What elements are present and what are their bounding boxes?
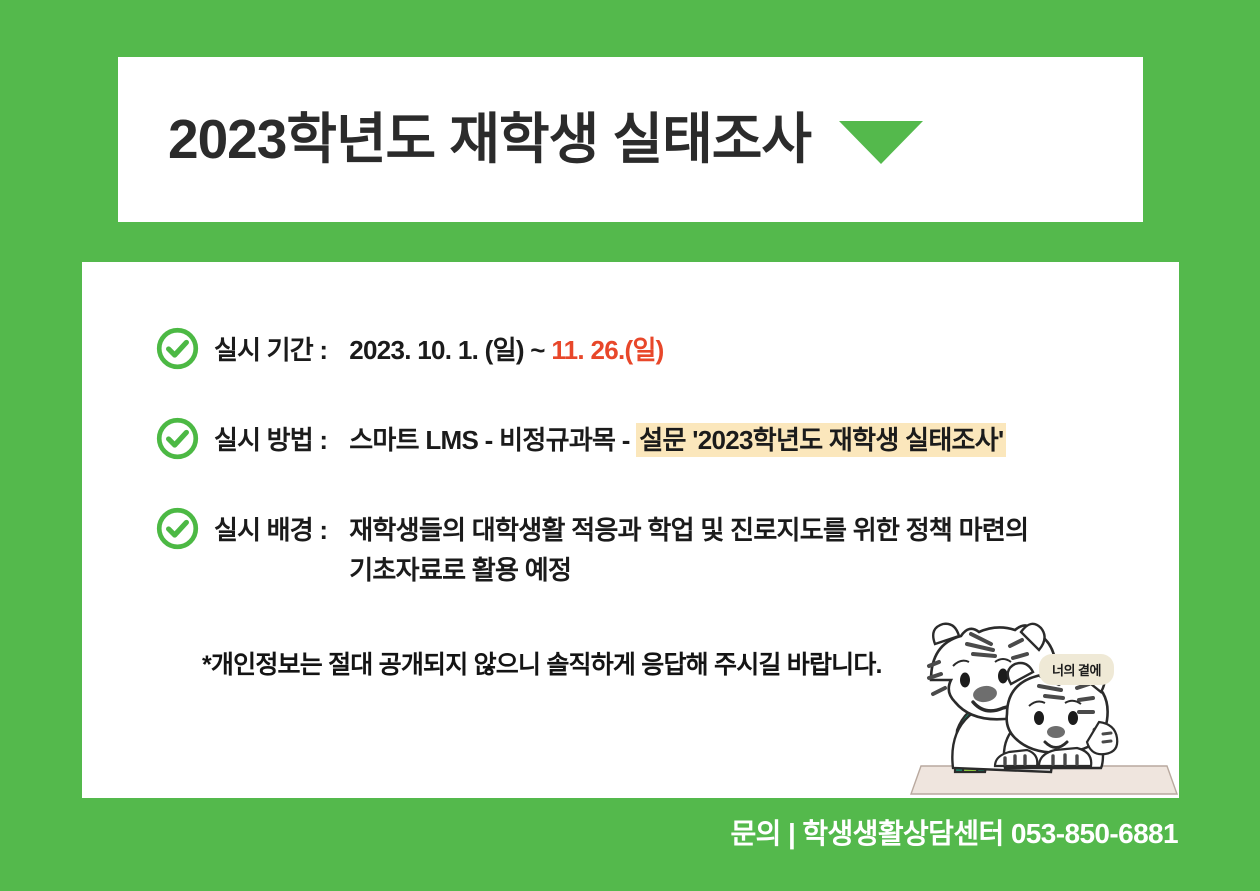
page-title: 2023학년도 재학생 실태조사 xyxy=(168,112,811,167)
check-circle-icon xyxy=(155,326,200,371)
tiger-eye-right xyxy=(998,669,1008,684)
row-value-period: 2023. 10. 1. (일) ~ 11. 26.(일) xyxy=(349,330,663,370)
info-rows: 실시 기간 : 2023. 10. 1. (일) ~ 11. 26.(일) 실시… xyxy=(155,330,1135,590)
row-value-background: 재학생들의 대학생활 적응과 학업 및 진로지도를 위한 정책 마련의 기초자료… xyxy=(349,510,1028,590)
info-row-period: 실시 기간 : 2023. 10. 1. (일) ~ 11. 26.(일) xyxy=(155,330,1135,371)
poster-root: 2023학년도 재학생 실태조사 실시 기간 : 2023. 10. 1. (일… xyxy=(0,0,1260,891)
tiger-mascot-svg xyxy=(909,618,1179,798)
row-label-method: 실시 방법 : xyxy=(214,420,327,460)
row-label-period: 실시 기간 : xyxy=(214,330,327,370)
check-circle-icon xyxy=(155,416,200,461)
cub-eye-right xyxy=(1068,711,1078,725)
speech-bubble: 너의 곁에 xyxy=(1039,654,1114,685)
background-line-1: 재학생들의 대학생활 적응과 학업 및 진로지도를 위한 정책 마련의 xyxy=(349,510,1028,550)
privacy-note: *개인정보는 절대 공개되지 않으니 솔직하게 응답해 주시길 바랍니다. xyxy=(202,645,882,681)
method-path-text: 스마트 LMS - 비정규과목 - xyxy=(349,425,636,455)
row-label-background: 실시 배경 : xyxy=(214,510,327,550)
tiger-eye-left xyxy=(960,673,970,688)
main-card: 실시 기간 : 2023. 10. 1. (일) ~ 11. 26.(일) 실시… xyxy=(82,262,1179,798)
check-circle-icon xyxy=(155,506,200,551)
info-row-background: 실시 배경 : 재학생들의 대학생활 적응과 학업 및 진로지도를 위한 정책 … xyxy=(155,510,1135,590)
footer-contact: 문의 | 학생생활상담센터 053-850-6881 xyxy=(730,812,1178,852)
period-start-text: 2023. 10. 1. (일) ~ xyxy=(349,335,551,365)
tiger-mascot-illustration: 너의 곁에 xyxy=(909,618,1179,798)
cub-eye-left xyxy=(1034,711,1044,725)
row-value-method: 스마트 LMS - 비정규과목 - 설문 '2023학년도 재학생 실태조사' xyxy=(349,420,1006,460)
title-card: 2023학년도 재학생 실태조사 xyxy=(118,57,1143,222)
method-survey-name: 설문 '2023학년도 재학생 실태조사' xyxy=(636,423,1006,457)
background-line-2: 기초자료로 활용 예정 xyxy=(349,550,1028,590)
period-end-text: 11. 26.(일) xyxy=(551,335,663,365)
info-row-method: 실시 방법 : 스마트 LMS - 비정규과목 - 설문 '2023학년도 재학… xyxy=(155,420,1135,461)
triangle-down-icon xyxy=(839,121,923,164)
